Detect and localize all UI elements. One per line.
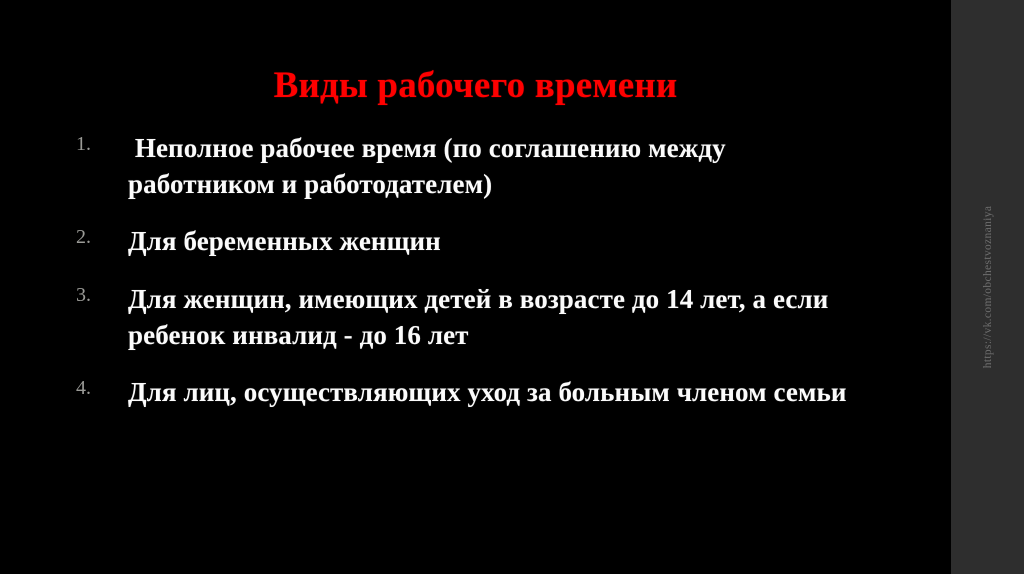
list-item-number: 2. bbox=[76, 226, 110, 249]
presentation-slide: Виды рабочего времени 1. Неполное рабоче… bbox=[0, 0, 1024, 574]
watermark-url: https://vk.com/obchestvoznaniya bbox=[982, 206, 994, 369]
page-title: Виды рабочего времени bbox=[0, 67, 951, 106]
list-item-text: Для женщин, имеющих детей в возрасте до … bbox=[128, 282, 872, 353]
list-item: 4. Для лиц, осуществляющих уход за больн… bbox=[72, 375, 872, 411]
list-item: 3. Для женщин, имеющих детей в возрасте … bbox=[72, 282, 872, 353]
list-item-text: Для беременных женщин bbox=[128, 224, 872, 260]
list-item-number: 3. bbox=[76, 284, 110, 307]
watermark-sidebar: https://vk.com/obchestvoznaniya bbox=[951, 0, 1024, 574]
list-item-text: Для лиц, осуществляющих уход за больным … bbox=[128, 375, 872, 411]
list-item-number: 1. bbox=[76, 133, 110, 156]
list-item-text: Неполное рабочее время (по соглашению ме… bbox=[128, 131, 872, 202]
list-item: 1. Неполное рабочее время (по соглашению… bbox=[72, 131, 872, 202]
list-item-number: 4. bbox=[76, 377, 110, 400]
list-item: 2. Для беременных женщин bbox=[72, 224, 872, 260]
numbered-list: 1. Неполное рабочее время (по соглашению… bbox=[72, 131, 872, 411]
slide-content-area: Виды рабочего времени 1. Неполное рабоче… bbox=[0, 0, 951, 574]
